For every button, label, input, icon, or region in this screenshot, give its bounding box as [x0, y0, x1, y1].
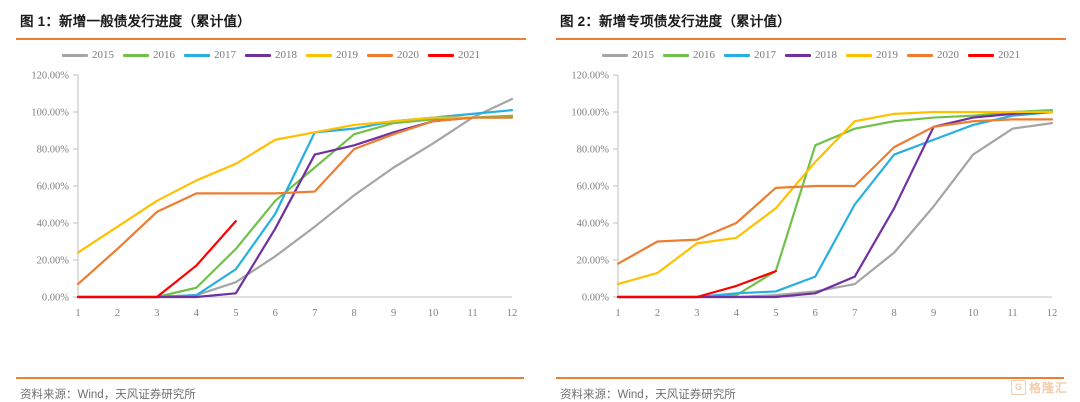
legend-item-2019[interactable]: 2019 — [306, 49, 358, 61]
figure-2-title: 图 2：新增专项债发行进度（累计值） — [556, 0, 1066, 38]
legend-swatch-2015 — [602, 54, 628, 57]
x-tick-label: 8 — [892, 308, 897, 319]
figure-2-legend: 2015201620172018201920202021 — [556, 40, 1066, 65]
legend-swatch-2017 — [724, 54, 750, 57]
legend-item-2016[interactable]: 2016 — [123, 49, 175, 61]
legend-swatch-2021 — [428, 54, 454, 57]
legend-label-2021: 2021 — [458, 49, 480, 61]
y-tick-label: 80.00% — [37, 145, 70, 156]
legend-item-2016[interactable]: 2016 — [663, 49, 715, 61]
figure-2-line-chart: 0.00%20.00%40.00%60.00%80.00%100.00%120.… — [556, 65, 1064, 333]
legend-item-2018[interactable]: 2018 — [785, 49, 837, 61]
report-figures-page: 图 1：新增一般债发行进度（累计值） 201520162017201820192… — [0, 0, 1080, 402]
x-tick-label: 12 — [507, 308, 518, 319]
legend-label-2016: 2016 — [153, 49, 175, 61]
x-tick-label: 2 — [115, 308, 120, 319]
x-tick-label: 5 — [233, 308, 238, 319]
series-line-2017 — [78, 110, 512, 297]
legend-item-2018[interactable]: 2018 — [245, 49, 297, 61]
legend-label-2019: 2019 — [336, 49, 358, 61]
x-tick-label: 9 — [931, 308, 936, 319]
x-tick-label: 6 — [813, 308, 818, 319]
x-tick-label: 11 — [467, 308, 477, 319]
legend-swatch-2016 — [663, 54, 689, 57]
y-tick-label: 120.00% — [31, 71, 69, 82]
legend-label-2017: 2017 — [754, 49, 776, 61]
legend-swatch-2019 — [306, 54, 332, 57]
legend-label-2015: 2015 — [92, 49, 114, 61]
figure-2-footer: 资料来源：Wind，天风证券研究所 G 格隆汇 — [540, 377, 1080, 402]
y-tick-label: 100.00% — [571, 108, 609, 119]
series-line-2015 — [78, 99, 512, 297]
legend-swatch-2015 — [62, 54, 88, 57]
figure-1-chart: 0.00%20.00%40.00%60.00%80.00%100.00%120.… — [16, 65, 524, 333]
x-tick-label: 5 — [773, 308, 778, 319]
figure-1-title: 图 1：新增一般债发行进度（累计值） — [16, 0, 526, 38]
x-tick-label: 3 — [694, 308, 699, 319]
series-line-2018 — [78, 118, 512, 297]
y-tick-label: 20.00% — [577, 256, 610, 267]
legend-item-2015[interactable]: 2015 — [602, 49, 654, 61]
legend-label-2015: 2015 — [632, 49, 654, 61]
x-tick-label: 7 — [852, 308, 857, 319]
y-tick-label: 80.00% — [577, 145, 610, 156]
x-tick-label: 1 — [615, 308, 620, 319]
figure-1-legend: 2015201620172018201920202021 — [16, 40, 526, 65]
series-line-2016 — [78, 116, 512, 297]
x-tick-label: 6 — [273, 308, 278, 319]
legend-item-2020[interactable]: 2020 — [367, 49, 419, 61]
legend-swatch-2018 — [785, 54, 811, 57]
legend-item-2019[interactable]: 2019 — [846, 49, 898, 61]
x-tick-label: 10 — [968, 308, 979, 319]
y-tick-label: 60.00% — [37, 182, 70, 193]
watermark-text: 格隆汇 — [1029, 379, 1068, 396]
series-line-2020 — [78, 118, 512, 284]
x-tick-label: 7 — [312, 308, 317, 319]
x-tick-label: 4 — [194, 308, 200, 319]
legend-item-2020[interactable]: 2020 — [907, 49, 959, 61]
x-tick-label: 1 — [75, 308, 80, 319]
legend-swatch-2017 — [184, 54, 210, 57]
figure-2-panel: 图 2：新增专项债发行进度（累计值） 201520162017201820192… — [540, 0, 1080, 402]
y-tick-label: 40.00% — [577, 219, 610, 230]
y-tick-label: 40.00% — [37, 219, 70, 230]
x-tick-label: 12 — [1047, 308, 1058, 319]
y-tick-label: 120.00% — [571, 71, 609, 82]
y-tick-label: 60.00% — [577, 182, 610, 193]
legend-item-2021[interactable]: 2021 — [428, 49, 480, 61]
series-line-2017 — [618, 112, 1052, 297]
legend-label-2018: 2018 — [815, 49, 837, 61]
legend-label-2019: 2019 — [876, 49, 898, 61]
x-tick-label: 10 — [428, 308, 439, 319]
x-tick-label: 3 — [154, 308, 159, 319]
x-tick-label: 4 — [734, 308, 740, 319]
y-tick-label: 0.00% — [582, 293, 609, 304]
figure-2-source: 资料来源：Wind，天风证券研究所 — [556, 379, 1064, 402]
x-tick-label: 2 — [655, 308, 660, 319]
y-tick-label: 20.00% — [37, 256, 70, 267]
figure-1-line-chart: 0.00%20.00%40.00%60.00%80.00%100.00%120.… — [16, 65, 524, 333]
legend-swatch-2018 — [245, 54, 271, 57]
x-tick-label: 8 — [352, 308, 357, 319]
gelonghui-logo-icon: G — [1011, 380, 1026, 395]
legend-label-2018: 2018 — [275, 49, 297, 61]
legend-item-2015[interactable]: 2015 — [62, 49, 114, 61]
legend-label-2020: 2020 — [937, 49, 959, 61]
legend-swatch-2020 — [367, 54, 393, 57]
series-line-2015 — [618, 123, 1052, 297]
legend-label-2016: 2016 — [693, 49, 715, 61]
figure-2-chart: 0.00%20.00%40.00%60.00%80.00%100.00%120.… — [556, 65, 1064, 333]
x-tick-label: 9 — [391, 308, 396, 319]
y-tick-label: 0.00% — [42, 293, 69, 304]
series-line-2016 — [618, 110, 1052, 297]
legend-label-2020: 2020 — [397, 49, 419, 61]
figure-1-source: 资料来源：Wind，天风证券研究所 — [16, 379, 524, 402]
watermark: G 格隆汇 — [1011, 379, 1068, 396]
legend-label-2021: 2021 — [998, 49, 1020, 61]
legend-swatch-2019 — [846, 54, 872, 57]
legend-swatch-2021 — [968, 54, 994, 57]
figure-1-panel: 图 1：新增一般债发行进度（累计值） 201520162017201820192… — [0, 0, 540, 402]
x-tick-label: 11 — [1007, 308, 1017, 319]
legend-item-2017[interactable]: 2017 — [724, 49, 776, 61]
legend-label-2017: 2017 — [214, 49, 236, 61]
series-line-2018 — [618, 112, 1052, 297]
legend-swatch-2016 — [123, 54, 149, 57]
legend-item-2017[interactable]: 2017 — [184, 49, 236, 61]
legend-item-2021[interactable]: 2021 — [968, 49, 1020, 61]
legend-swatch-2020 — [907, 54, 933, 57]
y-tick-label: 100.00% — [31, 108, 69, 119]
figure-1-footer: 资料来源：Wind，天风证券研究所 — [0, 377, 540, 402]
